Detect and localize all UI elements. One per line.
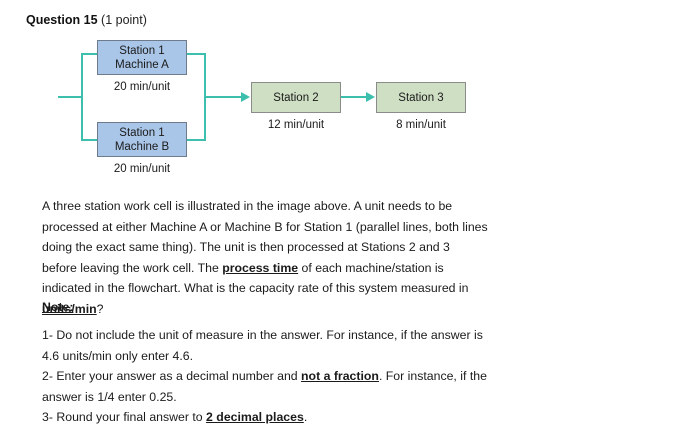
- node-station-2-label: Station 2: [273, 91, 318, 105]
- node-station-1-machine-a: Station 1 Machine A: [97, 40, 187, 75]
- note-item-2-text-a: 2- Enter your answer as a decimal number…: [42, 369, 301, 383]
- node-station-3: Station 3: [376, 82, 466, 113]
- connector-merge-bottom-branch: [186, 139, 206, 141]
- arrowhead-to-station3-icon: [366, 92, 375, 102]
- process-flowchart: Station 1 Machine A 20 min/unit Station …: [0, 30, 700, 190]
- note-item-3-text-a: 3- Round your final answer to: [42, 410, 206, 424]
- question-header: Question 15 (1 point): [26, 12, 147, 28]
- connector-merge-to-station2: [204, 96, 242, 98]
- body-part-3: ?: [97, 302, 104, 316]
- note-item-2: 2- Enter your answer as a decimal number…: [42, 366, 494, 407]
- note-item-3-emphasis: 2 decimal places: [206, 410, 304, 424]
- body-emphasis-process-time: process time: [222, 261, 298, 275]
- node-station-1-machine-a-line2: Machine A: [115, 58, 169, 72]
- time-label-station-1-machine-a: 20 min/unit: [97, 80, 187, 94]
- note-item-3-text-b: .: [304, 410, 307, 424]
- connector-split-vertical: [81, 53, 83, 141]
- arrowhead-to-station2-icon: [241, 92, 250, 102]
- time-label-station-1-machine-b: 20 min/unit: [97, 162, 187, 176]
- node-station-3-label: Station 3: [398, 91, 443, 105]
- connector-input-stub: [58, 96, 82, 98]
- note-item-1: 1- Do not include the unit of measure in…: [42, 325, 494, 366]
- note-item-1-text: 1- Do not include the unit of measure in…: [42, 328, 483, 363]
- note-list: 1- Do not include the unit of measure in…: [42, 325, 494, 428]
- question-title: Question 15: [26, 13, 98, 27]
- connector-merge-top-branch: [186, 53, 206, 55]
- note-item-3: 3- Round your final answer to 2 decimal …: [42, 407, 494, 428]
- note-heading: Note:: [42, 297, 73, 318]
- question-body-text: A three station work cell is illustrated…: [42, 196, 488, 319]
- time-label-station-3: 8 min/unit: [376, 118, 466, 132]
- node-station-1-machine-b-line1: Station 1: [119, 126, 164, 140]
- node-station-2: Station 2: [251, 82, 341, 113]
- node-station-1-machine-b: Station 1 Machine B: [97, 122, 187, 157]
- note-item-2-emphasis: not a fraction: [301, 369, 379, 383]
- question-points: (1 point): [101, 13, 147, 27]
- node-station-1-machine-b-line2: Machine B: [115, 140, 169, 154]
- connector-station2-to-station3: [341, 96, 367, 98]
- time-label-station-2: 12 min/unit: [251, 118, 341, 132]
- node-station-1-machine-a-line1: Station 1: [119, 44, 164, 58]
